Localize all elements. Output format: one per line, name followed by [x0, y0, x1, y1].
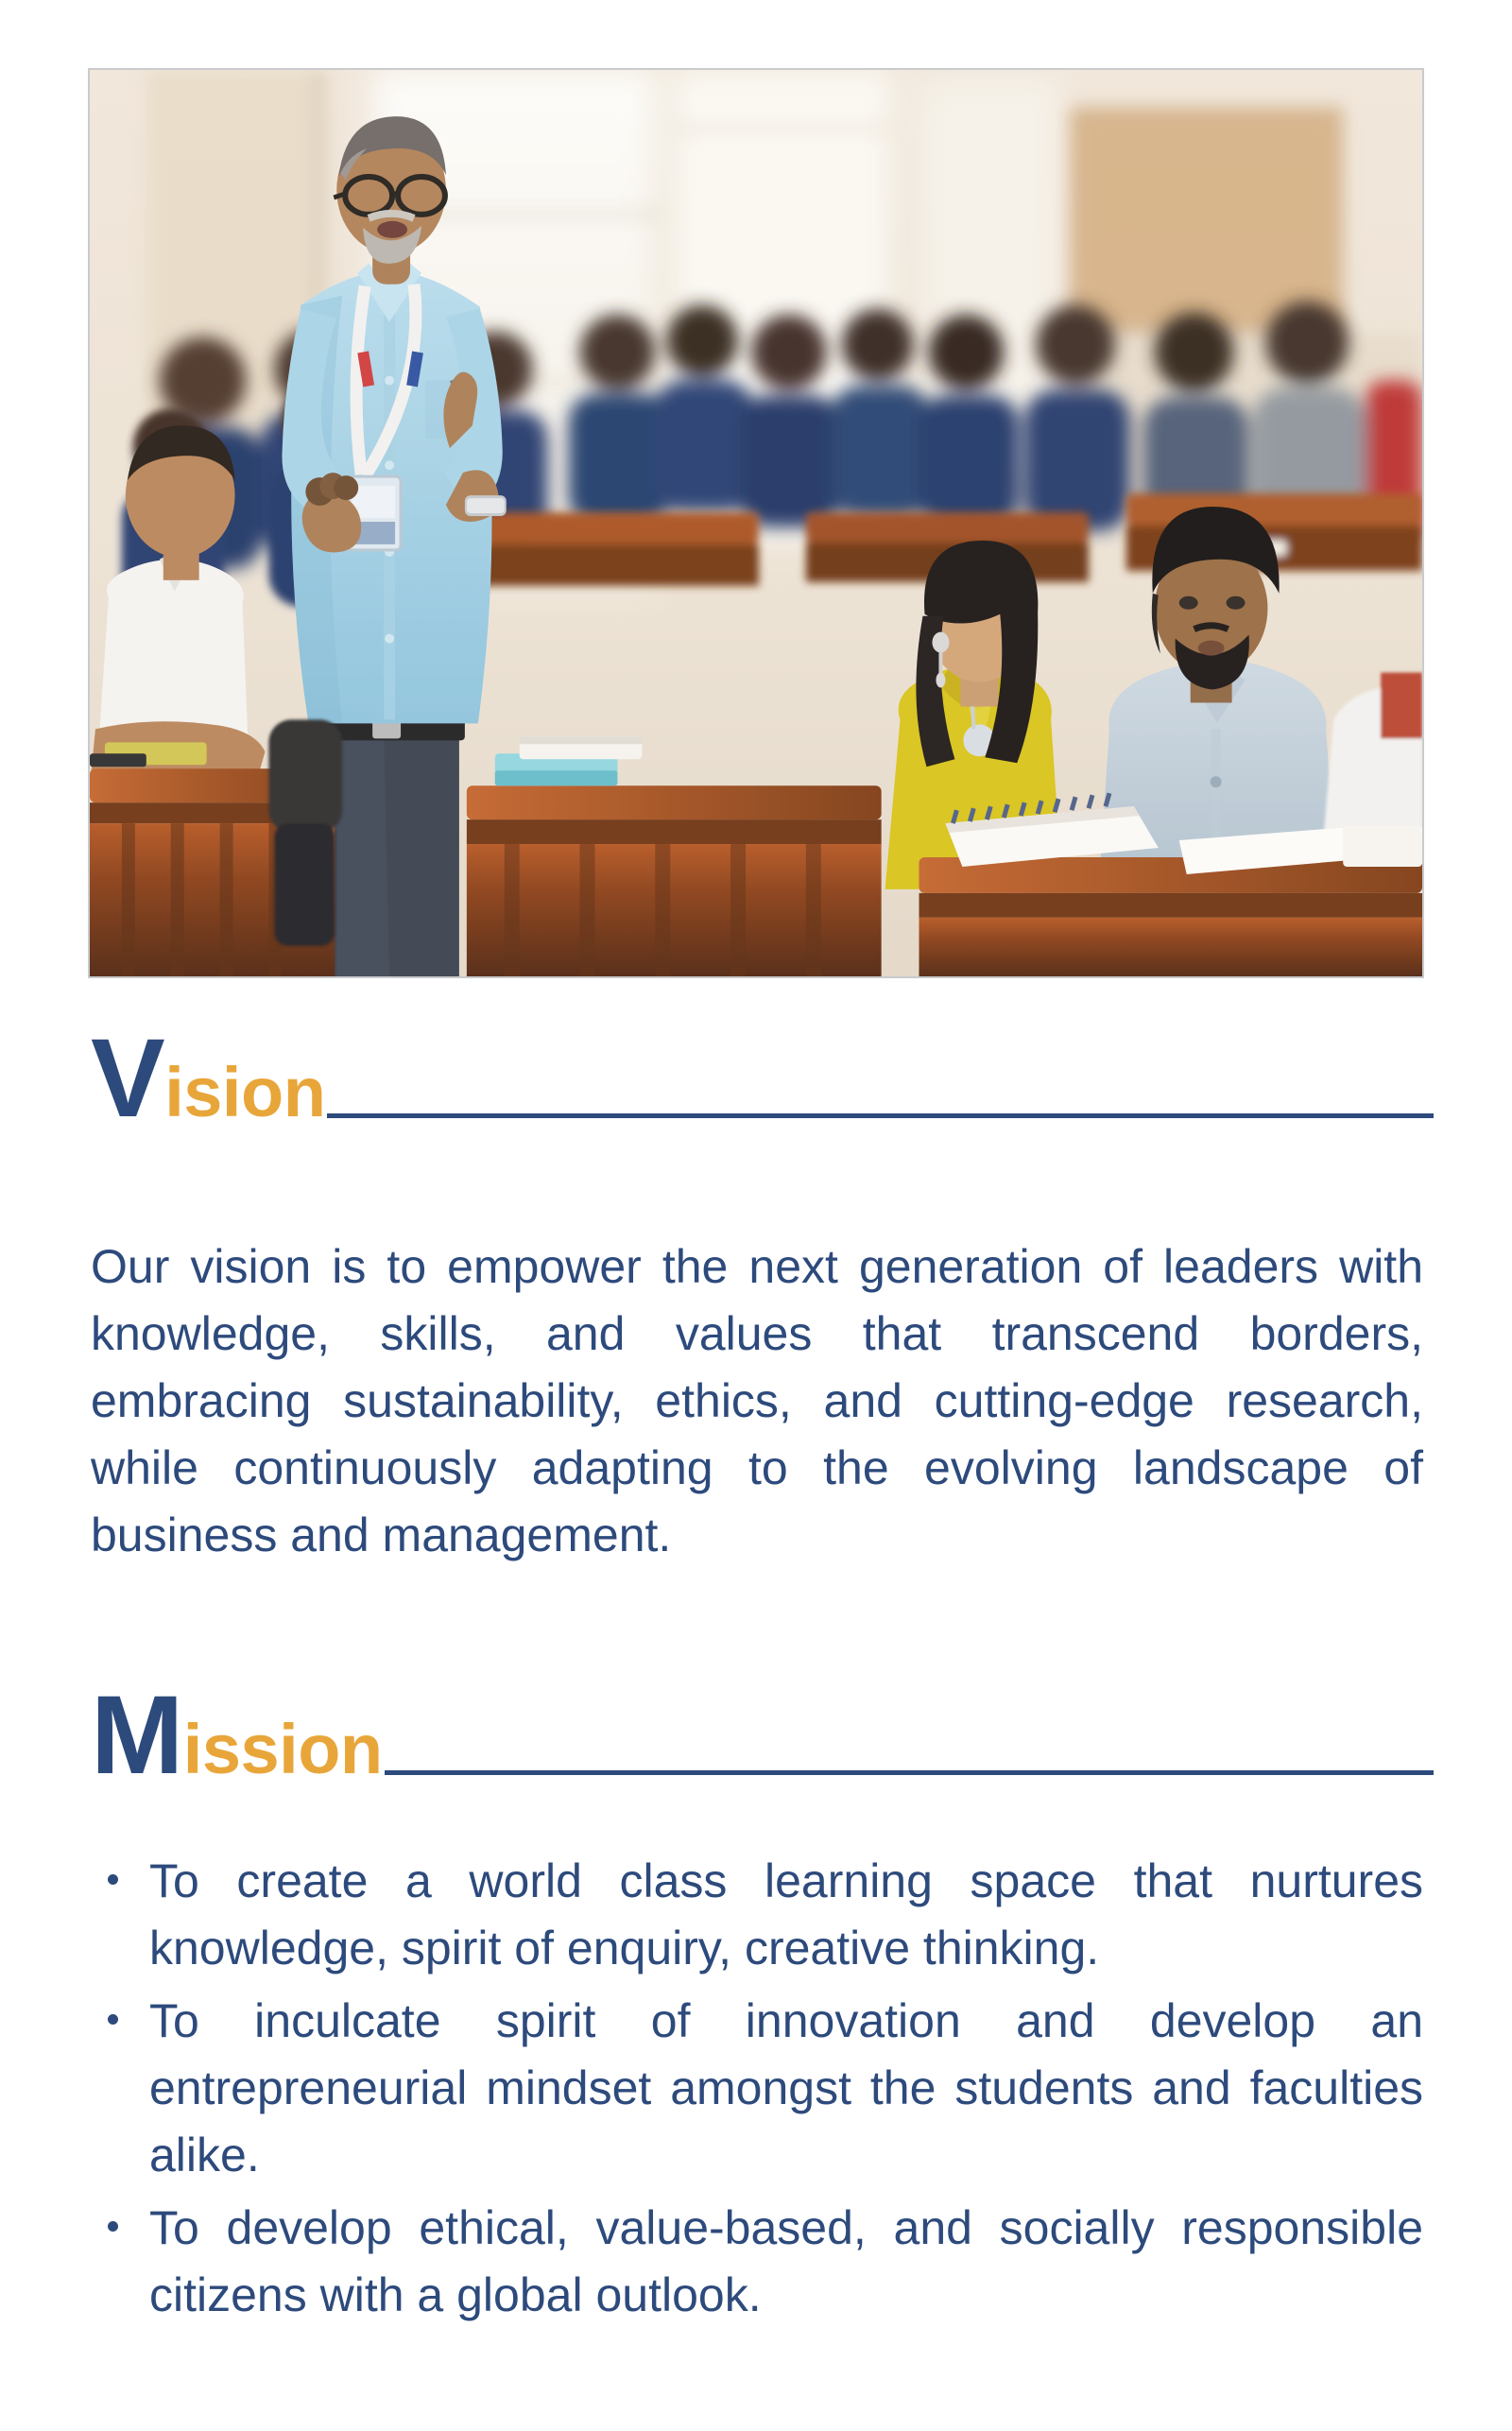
list-item: To develop ethical, value-based, and soc… — [91, 2195, 1423, 2329]
vision-heading: Vision — [91, 1026, 1434, 1131]
classroom-photo-illustration — [90, 70, 1422, 976]
mission-heading-text: Mission — [91, 1682, 383, 1788]
vision-heading-capital: V — [91, 1016, 164, 1141]
bullet-icon — [108, 2014, 118, 2025]
mission-item-text: To inculcate spirit of innovation and de… — [149, 1994, 1423, 2181]
mission-item-text: To create a world class learning space t… — [149, 1854, 1423, 1974]
list-item: To create a world class learning space t… — [91, 1848, 1423, 1982]
mission-heading-rest: ission — [183, 1710, 383, 1788]
mission-heading: Mission — [91, 1682, 1434, 1788]
bullet-icon — [108, 2221, 118, 2232]
vision-heading-rest: ision — [164, 1053, 325, 1131]
vision-heading-text: Vision — [91, 1026, 325, 1131]
classroom-photo — [88, 68, 1424, 978]
vision-heading-rule — [327, 1113, 1434, 1118]
list-item: To inculcate spirit of innovation and de… — [91, 1988, 1423, 2189]
vision-paragraph: Our vision is to empower the next genera… — [91, 1233, 1423, 1569]
bullet-icon — [108, 1874, 118, 1885]
mission-item-text: To develop ethical, value-based, and soc… — [149, 2201, 1423, 2321]
mission-list: To create a world class learning space t… — [91, 1848, 1423, 2335]
mission-heading-rule — [385, 1770, 1434, 1775]
mission-heading-capital: M — [91, 1673, 183, 1798]
